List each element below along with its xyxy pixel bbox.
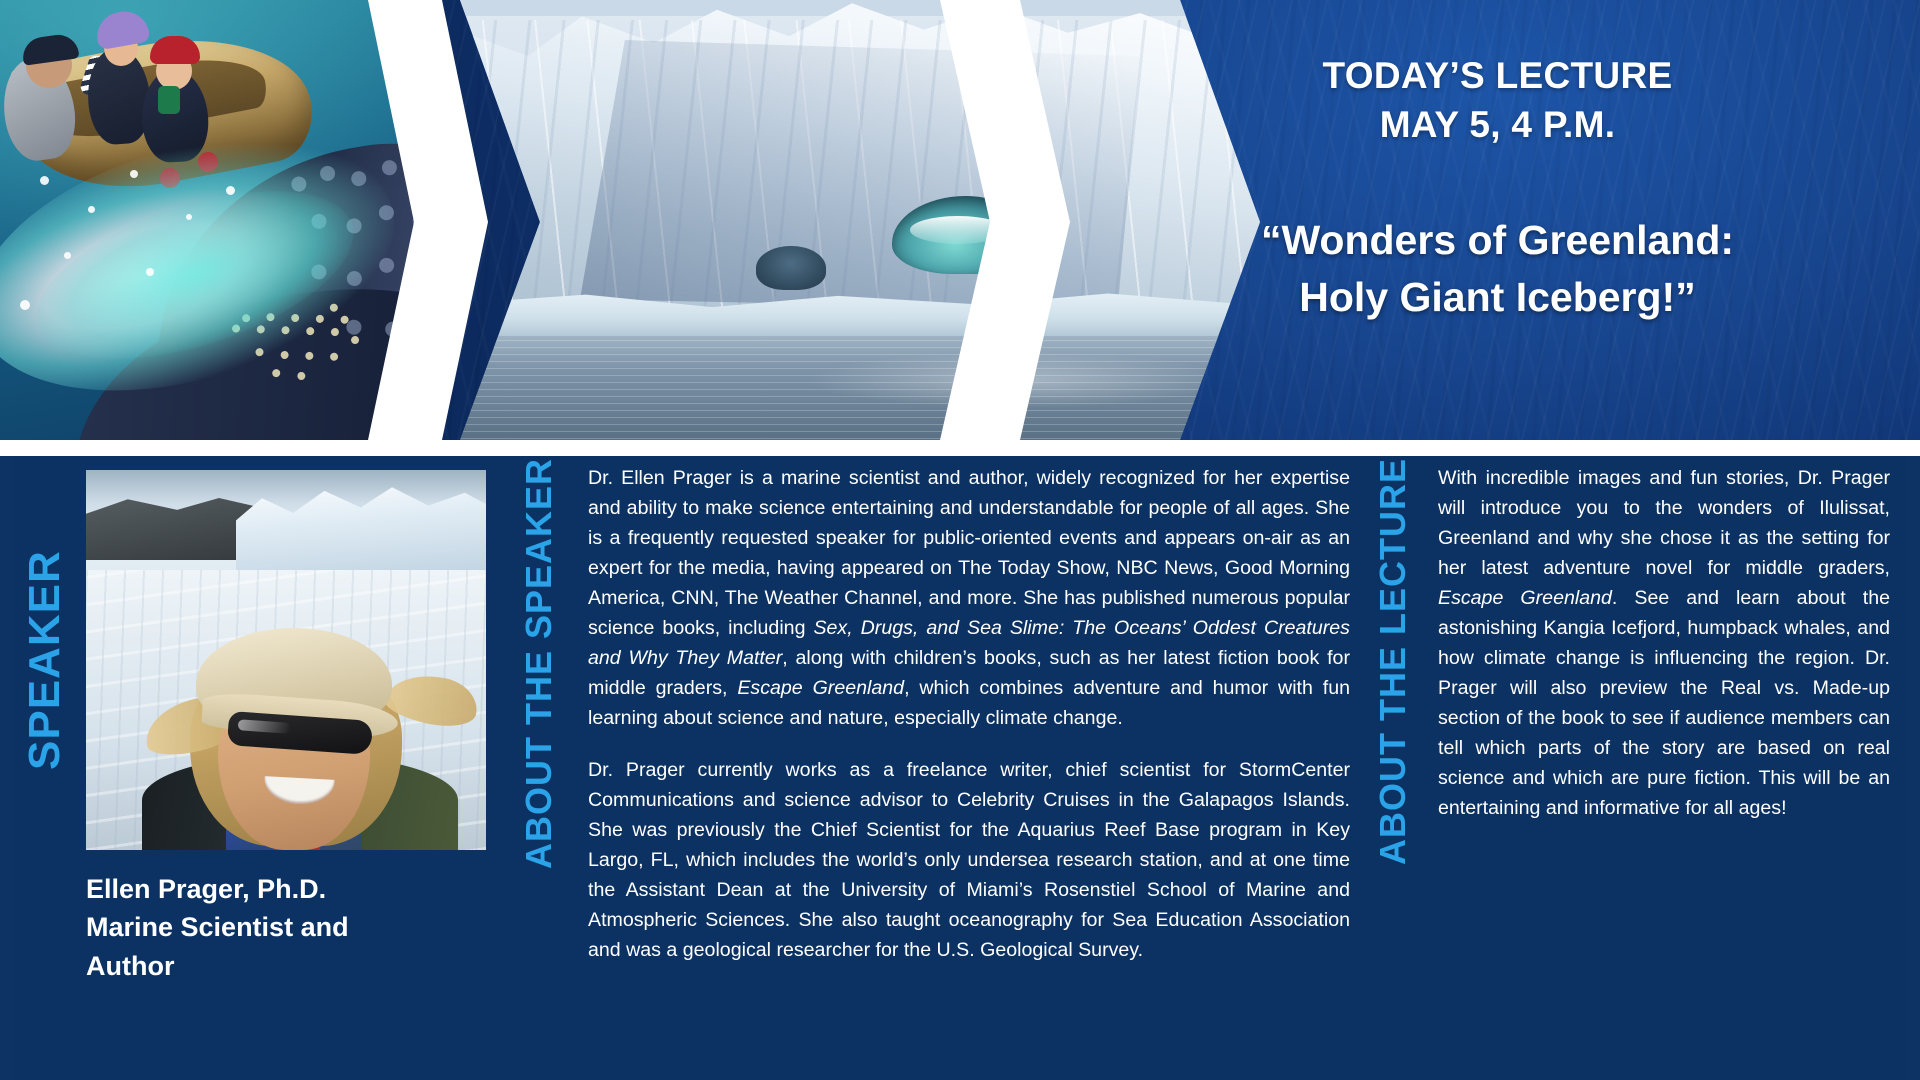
body-panel: SPEAKER Ellen Prager, Ph.D. [14,456,1906,1080]
iceberg-cave [756,246,826,290]
lec-part1: With incredible images and fun stories, … [1438,467,1890,579]
speaker-name: Ellen Prager, Ph.D. [86,870,496,908]
lecture-datetime: MAY 5, 4 P.M. [1380,101,1616,150]
todays-lecture-label: TODAY’S LECTURE [1323,52,1673,101]
book-title-escape-greenland-lecture: Escape Greenland [1438,587,1612,609]
lecture-title-line2: Holy Giant Iceberg!” [1261,269,1734,326]
about-speaker-column: ABOUT THE SPEAKER Dr. Ellen Prager is a … [506,456,1362,1080]
lecture-title: “Wonders of Greenland: Holy Giant Iceber… [1261,212,1734,327]
speaker-title-line2: Author [86,947,496,985]
lecture-announcement-poster: TODAY’S LECTURE MAY 5, 4 P.M. “Wonders o… [0,0,1920,1080]
figure-child2-hat [150,36,200,64]
about-speaker-vertical-label: ABOUT THE SPEAKER [518,458,560,869]
lecture-title-line1: “Wonders of Greenland: [1261,212,1734,269]
header-banner: TODAY’S LECTURE MAY 5, 4 P.M. “Wonders o… [0,0,1920,440]
speaker-column: SPEAKER Ellen Prager, Ph.D. [14,456,506,1080]
about-speaker-text: Dr. Ellen Prager is a marine scientist a… [588,464,1350,966]
speaker-vertical-label: SPEAKER [20,470,70,770]
about-speaker-paragraph-1: Dr. Ellen Prager is a marine scientist a… [588,464,1350,734]
book-title-escape-greenland: Escape Greenland [737,677,904,699]
about-speaker-paragraph-2: Dr. Prager currently works as a freelanc… [588,756,1350,966]
p1-part1: Dr. Ellen Prager is a marine scientist a… [588,467,1350,639]
about-lecture-column: ABOUT THE LECTURE With incredible images… [1362,456,1906,1080]
figure-child2-scarf [158,86,180,114]
about-lecture-text: With incredible images and fun stories, … [1438,464,1890,824]
speaker-portrait-photo [86,470,486,850]
about-lecture-paragraph-1: With incredible images and fun stories, … [1438,464,1890,824]
lec-part2: . See and learn about the astonishing Ka… [1438,587,1890,819]
about-lecture-vertical-label: ABOUT THE LECTURE [1372,458,1414,865]
speaker-name-block: Ellen Prager, Ph.D. Marine Scientist and… [86,870,496,985]
header-body-divider [0,440,1920,456]
speaker-title-line1: Marine Scientist and [86,908,496,946]
header-text-block: TODAY’S LECTURE MAY 5, 4 P.M. “Wonders o… [1075,0,1920,440]
